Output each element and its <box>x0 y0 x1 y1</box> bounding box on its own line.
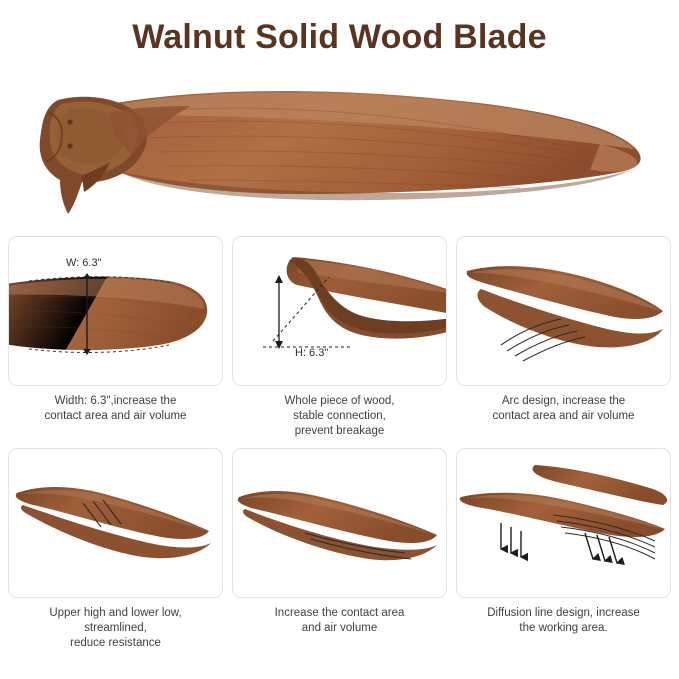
caption-width-line-1: Width: 6.3",increase the <box>8 394 223 409</box>
feature-cell-height: H: 6.3" Whole piece of wood, stable conn… <box>232 236 447 439</box>
feature-cell-streamlined: Upper high and lower low, streamlined, r… <box>8 448 223 651</box>
card-height: H: 6.3" <box>232 236 447 386</box>
width-arrow-top <box>83 273 91 279</box>
caption-diffusion: Diffusion line design, increase the work… <box>456 598 671 636</box>
mount-screw-hole-1 <box>67 119 72 124</box>
contact-blade-upper <box>238 491 437 543</box>
diffusion-arrows-left <box>501 523 521 557</box>
card-diffusion-line <box>456 448 671 598</box>
card-height-illustration <box>233 237 447 386</box>
height-dimension-label: H: 6.3" <box>295 347 328 359</box>
feature-card-grid: W: 6.3" Width: 6.3",increase the contact… <box>8 236 671 651</box>
caption-arc-line-2: contact area and air volume <box>456 409 671 424</box>
card-arc-illustration <box>457 237 671 386</box>
card-arc-design <box>456 236 671 386</box>
width-dimension-label: W: 6.3" <box>66 257 102 269</box>
caption-streamlined-line-1: Upper high and lower low, <box>8 606 223 621</box>
caption-diffusion-line-2: the working area. <box>456 621 671 636</box>
card-streamlined-illustration <box>9 449 223 598</box>
card-contact-illustration <box>233 449 447 598</box>
feature-cell-contact-area: Increase the contact area and air volume <box>232 448 447 651</box>
caption-streamlined-line-3: reduce resistance <box>8 636 223 651</box>
diffusion-arrows-right <box>585 533 617 563</box>
height-arrow-bottom <box>275 341 283 349</box>
caption-height: Whole piece of wood, stable connection, … <box>232 386 447 439</box>
card-diffusion-illustration <box>457 449 671 598</box>
caption-width-line-2: contact area and air volume <box>8 409 223 424</box>
caption-streamlined: Upper high and lower low, streamlined, r… <box>8 598 223 651</box>
height-arrow-top <box>275 275 283 283</box>
card-width: W: 6.3" <box>8 236 223 386</box>
card-streamlined <box>8 448 223 598</box>
feature-cell-arc: Arc design, increase the contact area an… <box>456 236 671 439</box>
caption-arc-line-1: Arc design, increase the <box>456 394 671 409</box>
hero-blade-svg <box>0 72 679 227</box>
caption-arc: Arc design, increase the contact area an… <box>456 386 671 424</box>
caption-diffusion-line-1: Diffusion line design, increase <box>456 606 671 621</box>
caption-height-line-2: stable connection, <box>232 409 447 424</box>
feature-cell-diffusion: Diffusion line design, increase the work… <box>456 448 671 651</box>
caption-height-line-1: Whole piece of wood, <box>232 394 447 409</box>
hero-blade-image <box>0 72 679 227</box>
caption-height-line-3: prevent breakage <box>232 424 447 439</box>
feature-cell-width: W: 6.3" Width: 6.3",increase the contact… <box>8 236 223 439</box>
caption-contact-line-2: and air volume <box>232 621 447 636</box>
card-contact-area <box>232 448 447 598</box>
caption-contact-line-1: Increase the contact area <box>232 606 447 621</box>
caption-streamlined-line-2: streamlined, <box>8 621 223 636</box>
card-width-illustration <box>9 237 223 386</box>
page-title: Walnut Solid Wood Blade <box>0 18 679 57</box>
caption-width: Width: 6.3",increase the contact area an… <box>8 386 223 424</box>
mount-screw-hole-2 <box>67 143 72 148</box>
caption-contact-area: Increase the contact area and air volume <box>232 598 447 636</box>
